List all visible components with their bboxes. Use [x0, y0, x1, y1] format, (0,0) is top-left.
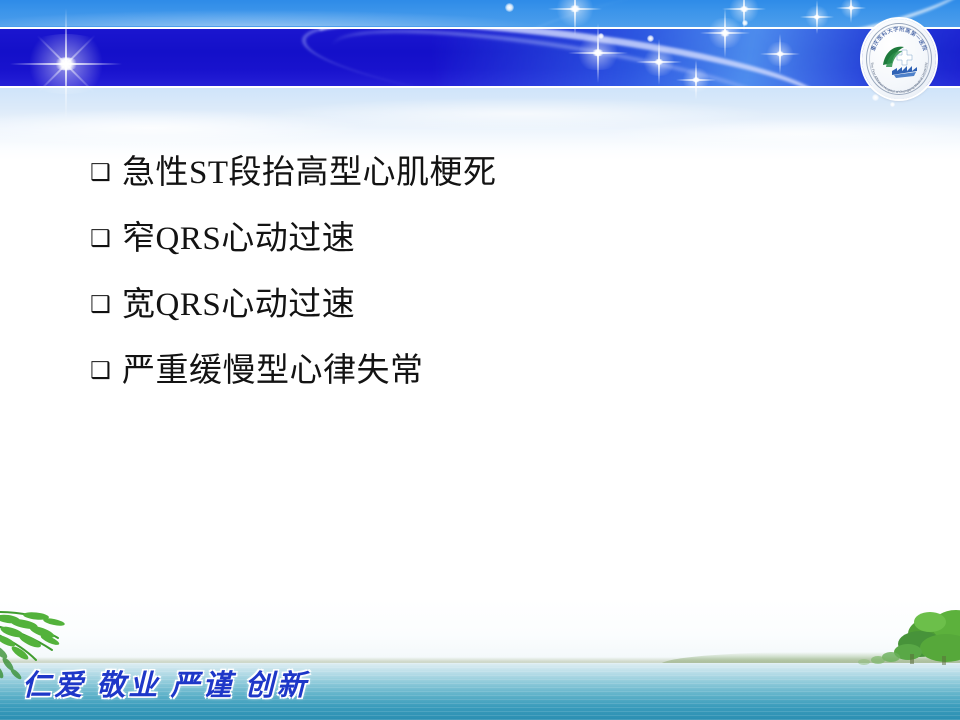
sparkle-dot — [890, 102, 895, 107]
footer-slogan: 仁爱 敬业 严谨 创新 — [22, 662, 309, 704]
cloud-sky — [0, 88, 960, 160]
svg-text:The First Affiliated Hospital: The First Affiliated Hospital of Chongqi… — [870, 62, 928, 94]
hospital-logo: 重庆医科大学附属第一医院 The First Affiliated Hospit… — [862, 19, 936, 99]
sparkle-dot — [505, 3, 514, 12]
list-item[interactable]: ❑ 宽QRS心动过速 — [90, 288, 890, 354]
list-item-label: 急性ST段抬高型心肌梗死 — [122, 156, 497, 191]
slide: 重庆医科大学附属第一医院 The First Affiliated Hospit… — [0, 0, 960, 720]
list-item-label: 宽QRS心动过速 — [122, 288, 355, 323]
sparkle-dot — [598, 33, 604, 39]
bullet-list: ❑ 急性ST段抬高型心肌梗死 ❑ 窄QRS心动过速 ❑ 宽QRS心动过速 ❑ 严… — [90, 156, 890, 420]
sparkle-dot — [647, 35, 654, 42]
header-blue-band — [0, 29, 960, 86]
square-bullet-icon: ❑ — [90, 228, 122, 251]
sparkle-dot — [742, 20, 748, 26]
square-bullet-icon: ❑ — [90, 360, 122, 383]
list-item[interactable]: ❑ 严重缓慢型心律失常 — [90, 354, 890, 420]
list-item[interactable]: ❑ 急性ST段抬高型心肌梗死 — [90, 156, 890, 222]
tree-cluster-right — [760, 608, 960, 678]
list-item-label: 窄QRS心动过速 — [122, 222, 355, 257]
logo-artwork: 重庆医科大学附属第一医院 The First Affiliated Hospit… — [862, 19, 936, 99]
square-bullet-icon: ❑ — [90, 294, 122, 317]
list-item[interactable]: ❑ 窄QRS心动过速 — [90, 222, 890, 288]
square-bullet-icon: ❑ — [90, 162, 122, 185]
list-item-label: 严重缓慢型心律失常 — [122, 354, 424, 389]
slide-header: 重庆医科大学附属第一医院 The First Affiliated Hospit… — [0, 0, 960, 160]
